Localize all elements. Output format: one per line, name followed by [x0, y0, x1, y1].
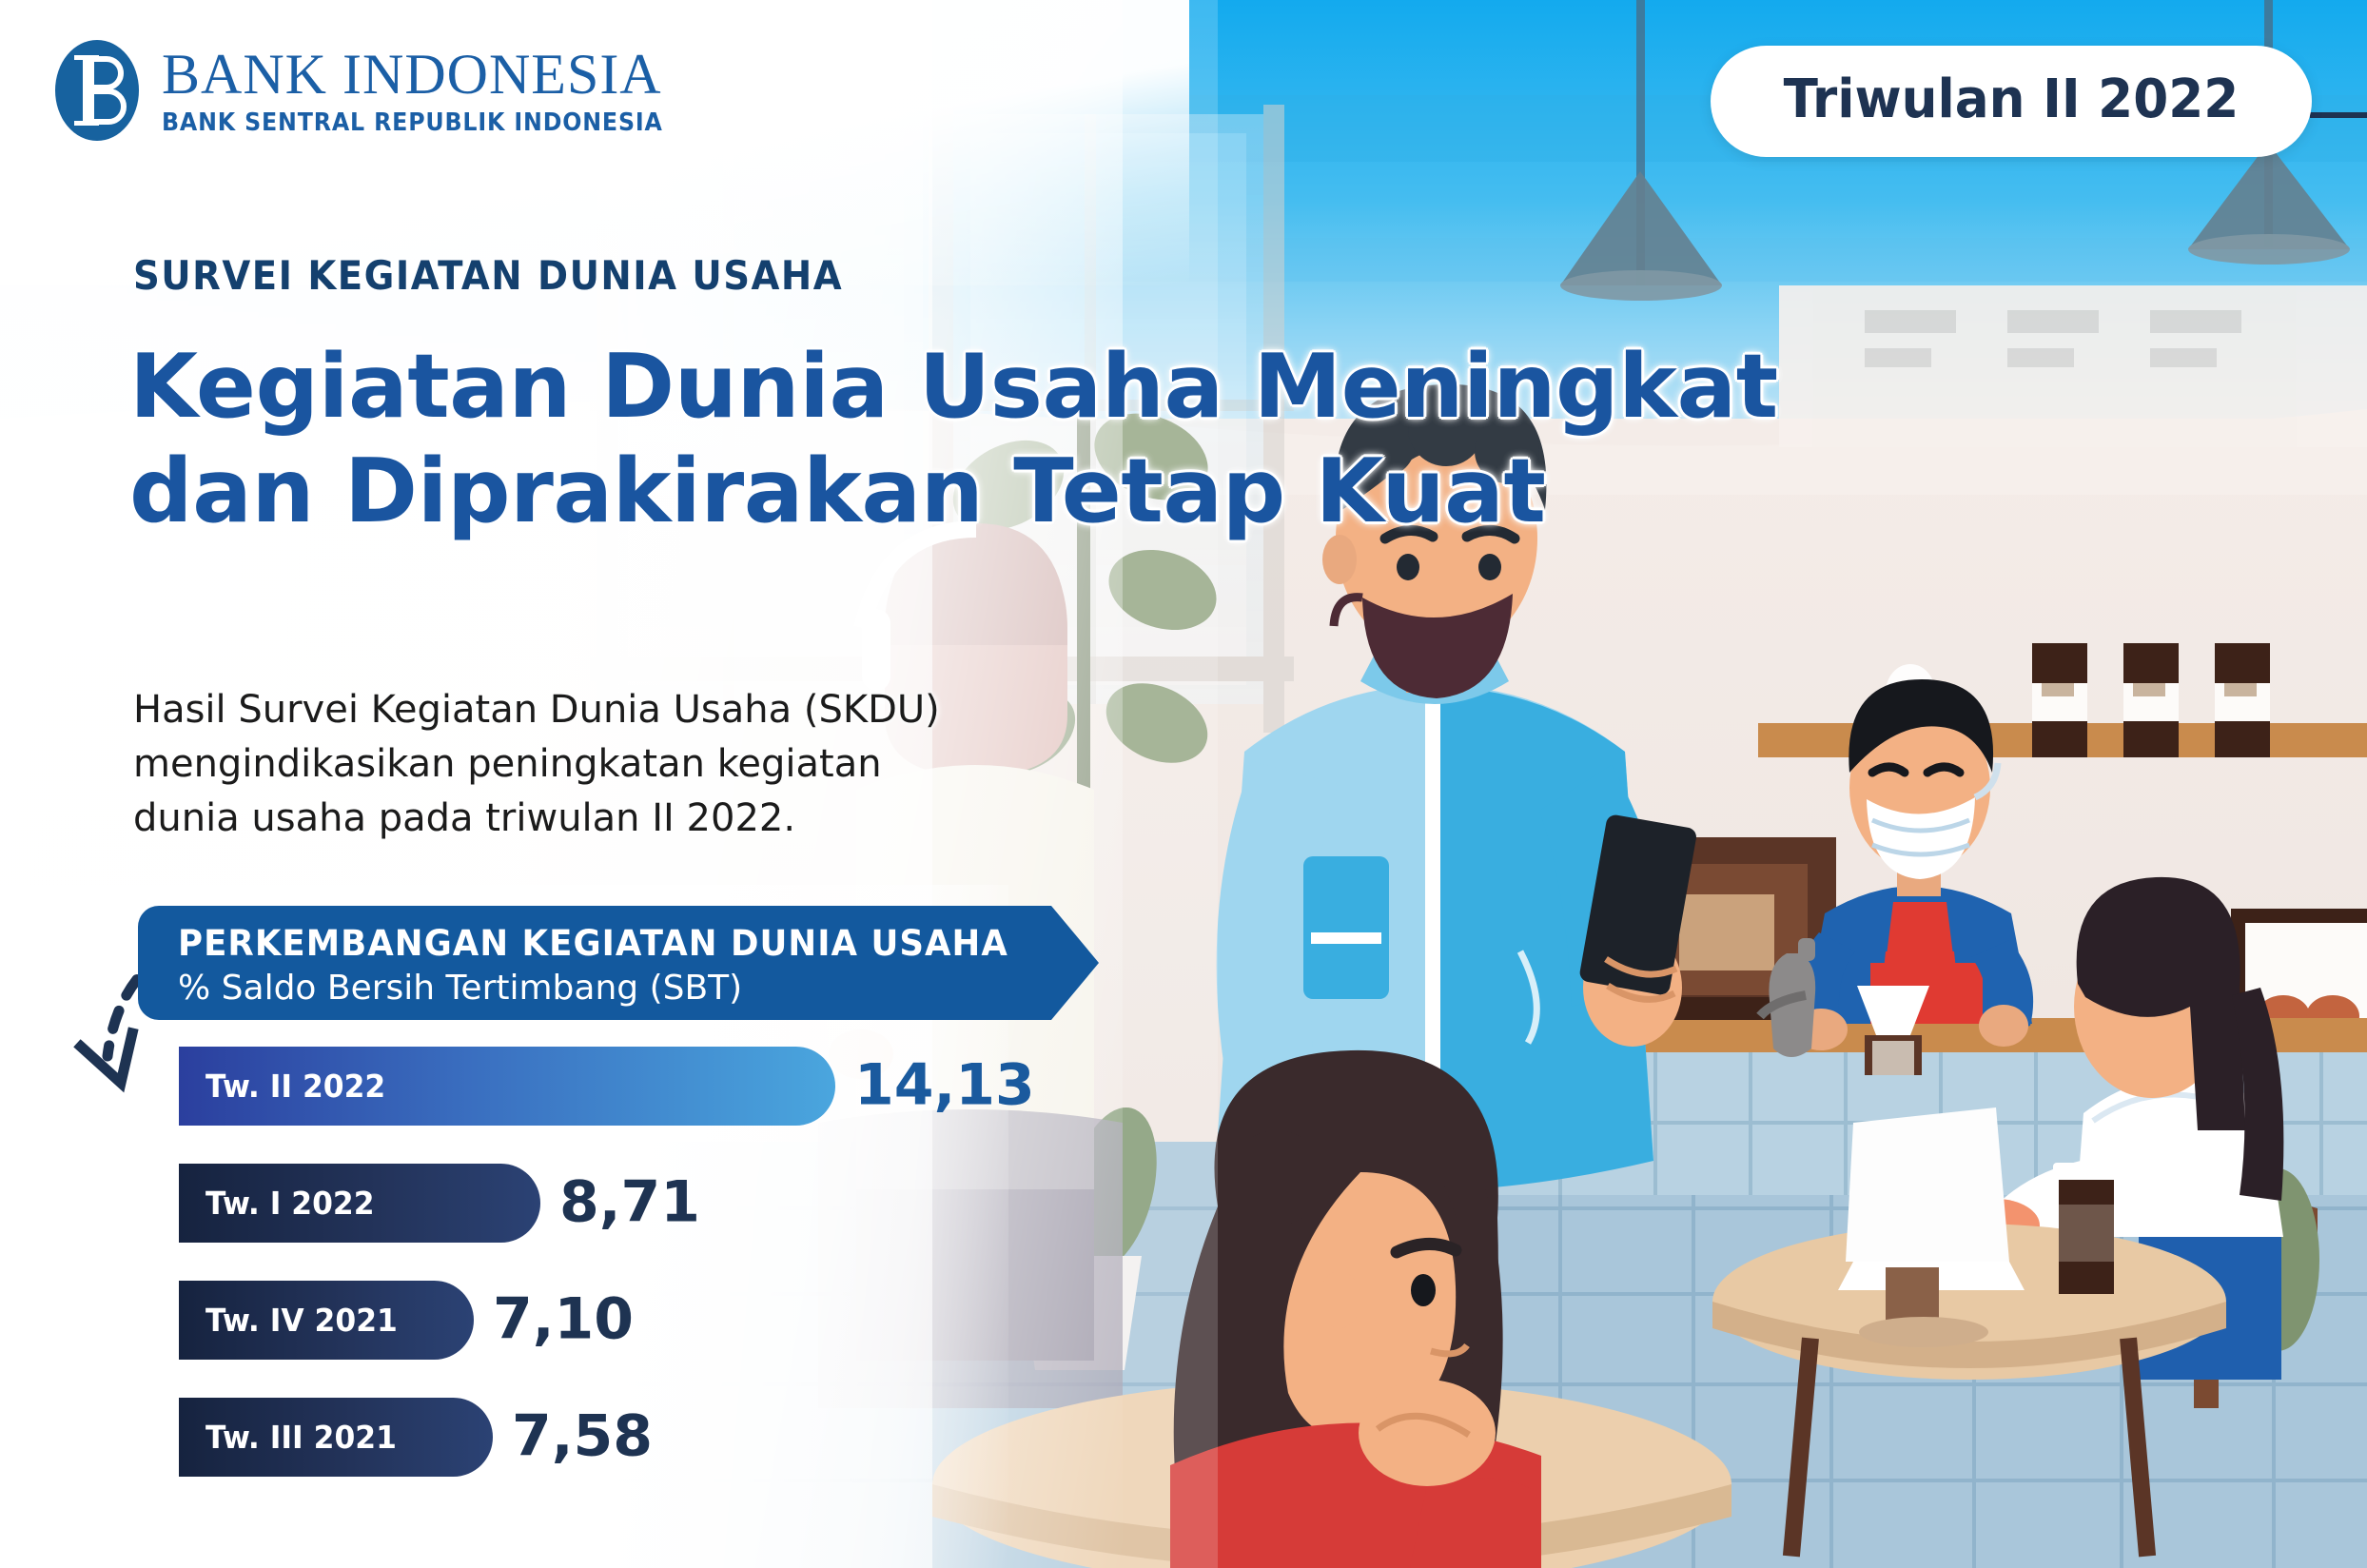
- bar-tw-i-2022: Tw. I 2022: [179, 1164, 540, 1243]
- bar-row: Tw. III 2021 7,58: [0, 1398, 1047, 1477]
- logo-title: BANK INDONESIA: [162, 46, 700, 103]
- bar-tw-iii-2021: Tw. III 2021: [179, 1398, 493, 1477]
- bar-tw-ii-2022: Tw. II 2022: [179, 1047, 835, 1126]
- bar-category-label: Tw. IV 2021: [205, 1302, 398, 1339]
- quarter-badge-label: Triwulan II 2022: [1784, 69, 2240, 130]
- infographic-canvas: BANK INDONESIA BANK SENTRAL REPUBLIK IND…: [0, 0, 2367, 1568]
- logo-subtitle: BANK SENTRAL REPUBLIK INDONESIA: [162, 111, 663, 136]
- bank-indonesia-logo: BANK INDONESIA BANK SENTRAL REPUBLIK IND…: [53, 38, 700, 143]
- lede-line-1: Hasil Survei Kegiatan Dunia Usaha (SKDU): [133, 683, 1123, 737]
- lede-paragraph: Hasil Survei Kegiatan Dunia Usaha (SKDU)…: [133, 683, 1123, 845]
- bar-row: Tw. I 2022 8,71: [0, 1164, 1047, 1243]
- chart-subtitle: % Saldo Bersih Tertimbang (SBT): [178, 969, 742, 1008]
- bar-category-label: Tw. II 2022: [205, 1068, 385, 1105]
- bar-chart: Tw. II 2022 14,13 Tw. I 2022 8,71 Tw. IV…: [0, 1047, 1047, 1515]
- bar-category-label: Tw. I 2022: [205, 1185, 375, 1222]
- headline-line-2: dan Diprakirakan Tetap Kuat: [129, 440, 1480, 544]
- bar-value-label: 7,10: [493, 1285, 634, 1352]
- bar-value-label: 8,71: [559, 1168, 700, 1235]
- bar-category-label: Tw. III 2021: [205, 1419, 397, 1456]
- chart-header-banner: PERKEMBANGAN KEGIATAN DUNIA USAHA % Sald…: [138, 906, 1113, 1020]
- bank-indonesia-seal-icon: [53, 38, 141, 143]
- bar-row: Tw. II 2022 14,13: [0, 1047, 1047, 1126]
- bar-value-label: 14,13: [854, 1051, 1035, 1118]
- bar-tw-iv-2021: Tw. IV 2021: [179, 1281, 474, 1360]
- chart-title: PERKEMBANGAN KEGIATAN DUNIA USAHA: [178, 923, 1008, 964]
- bar-row: Tw. IV 2021 7,10: [0, 1281, 1047, 1360]
- lede-line-3: dunia usaha pada triwulan II 2022.: [133, 792, 1123, 846]
- headline-line-1: Kegiatan Dunia Usaha Meningkat: [129, 335, 1480, 440]
- badge-connector-line: [2310, 112, 2367, 118]
- bar-value-label: 7,58: [512, 1402, 653, 1469]
- eyebrow-label: SURVEI KEGIATAN DUNIA USAHA: [133, 252, 843, 299]
- quarter-badge: Triwulan II 2022: [1711, 46, 2312, 157]
- page-title: Kegiatan Dunia Usaha Meningkat dan Dipra…: [129, 335, 1480, 543]
- lede-line-2: mengindikasikan peningkatan kegiatan: [133, 737, 1123, 792]
